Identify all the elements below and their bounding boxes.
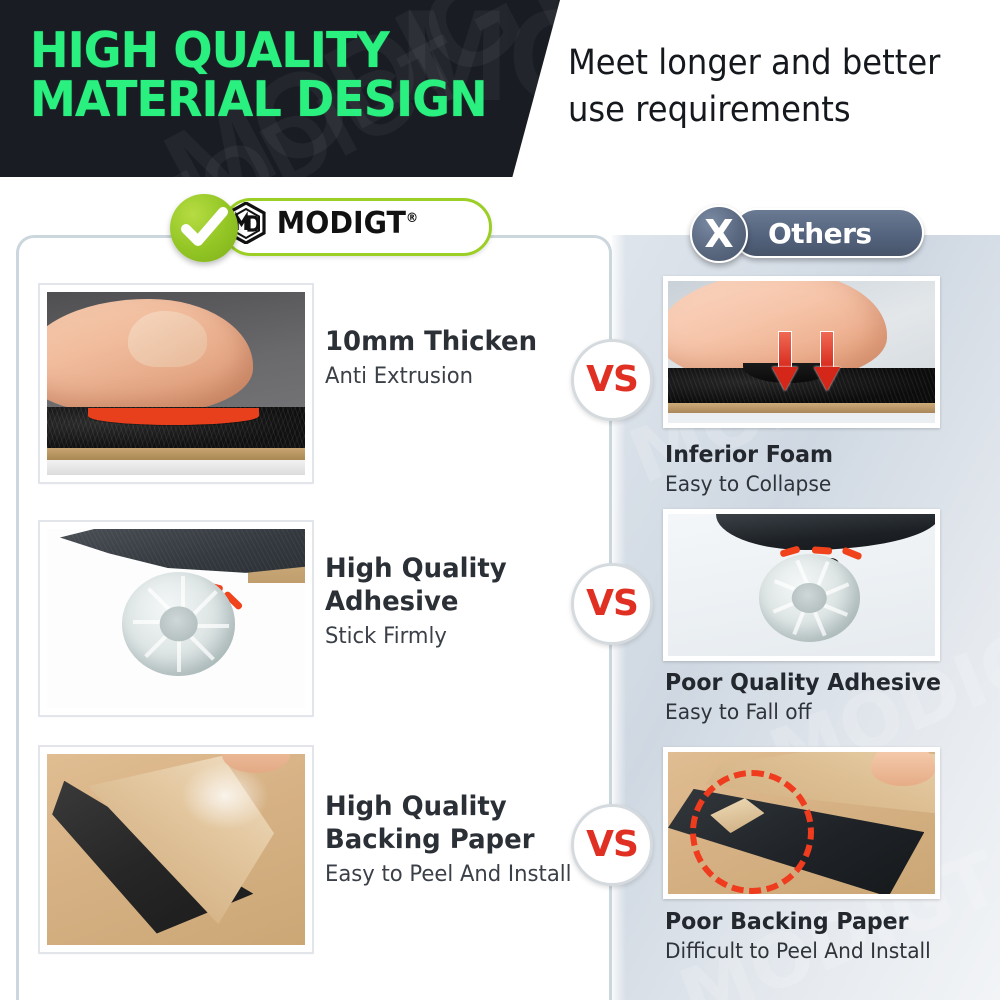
surface-layer [668,413,935,423]
check-icon [170,194,238,262]
row-2-bad-text: Poor Quality Adhesive Easy to Fall off [665,670,995,726]
row-2-good-title-line-1: High Quality [325,552,565,585]
brand-name: MODIGT [277,206,406,241]
vs-label: VS [574,566,650,642]
plastic-bottle-base [122,572,236,676]
arrow-shaft [778,331,792,371]
vs-badge-3: VS [571,804,653,886]
others-label: Others [768,217,872,250]
torn-backing-paper-photo [663,747,940,899]
hand-shape [871,747,935,786]
adhesive-holding-bottle-photo [40,522,312,715]
down-arrow-icon [814,331,840,393]
row-3-bad-title: Poor Backing Paper [665,909,987,936]
modigt-wordmark: MODIGT® [277,206,419,241]
backing-layer [47,448,305,461]
row-3-good-title-line-2: Backing Paper [325,823,579,856]
vs-badge-2: VS [571,563,653,645]
header-banner: MODIGT MODIGT MODIGT HIGH QUALITY MATERI… [0,0,1000,177]
finger-collapsing-inferior-foam-photo [663,276,940,428]
surface-layer [47,460,305,475]
row-3-good-text: High Quality Backing Paper Easy to Peel … [325,790,590,890]
red-compression-highlight [88,408,258,424]
row-1-good-text: 10mm Thicken Anti Extrusion [325,325,575,392]
check-circle [170,194,238,262]
row-2-bad-subtitle: Easy to Fall off [665,699,982,726]
modigt-brand-group: MODIGT® [226,202,422,244]
arrow-shaft [820,331,834,371]
backing-layer [668,403,935,413]
vs-badge-1: VS [571,339,653,421]
vs-label: VS [574,342,650,418]
infographic-page: MODIGT MODIGT MODIGT HIGH QUALITY MATERI… [0,0,1000,1000]
finger-pressing-thick-foam-photo [40,285,312,482]
down-arrow-icon [772,331,798,393]
row-1-bad-title: Inferior Foam [665,442,972,469]
row-1-good-subtitle: Anti Extrusion [325,362,565,392]
row-2-good-title-line-2: Adhesive [325,585,565,618]
row-3-good-subtitle: Easy to Peel And Install [325,860,579,890]
row-2-good-subtitle: Stick Firmly [325,622,565,652]
vs-label: VS [574,807,650,883]
red-dash-mark [812,546,832,554]
comparison-area: MODIGT MODIGT MODIGT MODIGT® [0,177,1000,1000]
row-3-bad-text: Poor Backing Paper Difficult to Peel And… [665,909,1000,965]
row-3-good-title-line-1: High Quality [325,790,579,823]
peeling-backing-paper-photo [40,747,312,952]
fingernail-shape [128,311,207,368]
weak-adhesive-bottle-photo [663,509,940,661]
trademark-symbol: ® [406,211,418,226]
header-subtitle: Meet longer and better use requirements [568,40,954,134]
red-dashed-highlight-circle [690,770,814,894]
row-1-bad-subtitle: Easy to Collapse [665,471,972,498]
row-3-bad-subtitle: Difficult to Peel And Install [665,938,987,965]
bottle-center-ring [792,583,826,613]
row-2-good-text: High Quality Adhesive Stick Firmly [325,552,575,652]
row-1-good-title: 10mm Thicken [325,325,565,358]
header-title-line-2: MATERIAL DESIGN [30,75,500,124]
plastic-bottle-base [759,554,860,642]
row-2-bad-title: Poor Quality Adhesive [665,670,982,697]
x-icon: X [692,207,746,261]
arrow-head [814,367,840,391]
x-circle: X [690,205,748,263]
row-1-bad-text: Inferior Foam Easy to Collapse [665,442,985,498]
header-title: HIGH QUALITY MATERIAL DESIGN [30,26,500,124]
arrow-head [772,367,798,391]
bottle-center-ring [159,606,198,641]
